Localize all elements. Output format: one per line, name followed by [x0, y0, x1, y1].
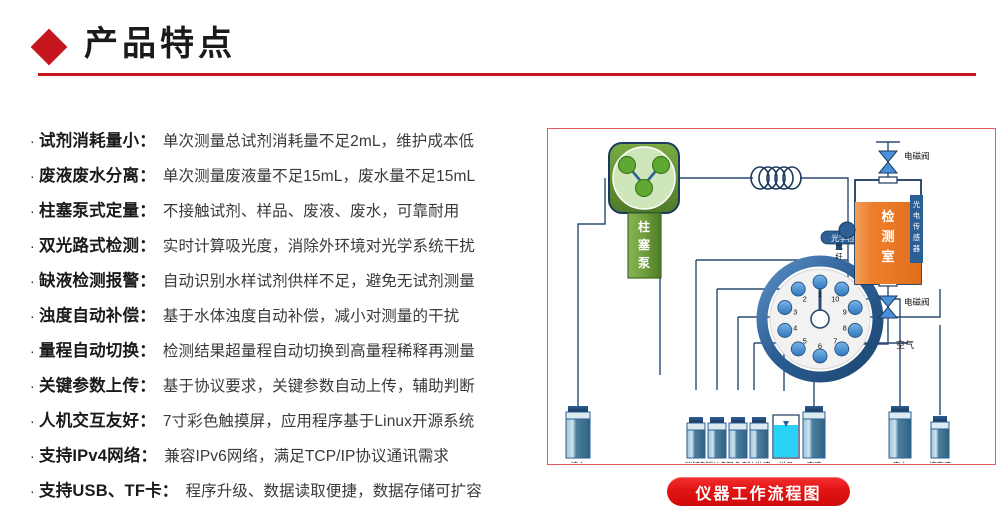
valve-port-label-10: 10 — [831, 294, 839, 303]
svg-text:光: 光 — [913, 200, 920, 209]
bottle-cap — [568, 406, 588, 412]
optical-fiber-label: 光纤 — [835, 241, 843, 261]
feature-title: 量程自动切换： — [39, 334, 156, 369]
bottle-body — [566, 419, 590, 458]
flow-diagram-svg: 柱 塞 泵 光学检测器 — [548, 129, 994, 463]
pump-label-2: 塞 — [638, 237, 651, 252]
valve-port-label-2: 2 — [803, 294, 807, 303]
feature-item: ·缺液检测报警：自动识别水样试剂供样不足，避免无试剂测量 — [30, 264, 540, 299]
bullet-icon: · — [30, 124, 39, 159]
feature-description: 兼容IPv6网络，满足TCP/IP协议通讯需求 — [157, 439, 449, 474]
chamber-label-1: 检 — [881, 209, 894, 224]
bottle-8: 核查液 — [929, 416, 952, 463]
bullet-icon: · — [30, 474, 39, 509]
bottle-label: 废水 — [893, 460, 908, 463]
chamber-label-2: 测 — [881, 229, 894, 244]
feature-item: ·废液废水分离：单次测量废液量不足15mL，废水量不足15mL — [30, 159, 540, 194]
feature-item: ·量程自动切换：检测结果超量程自动切换到高量程稀释再测量 — [30, 334, 540, 369]
feature-title: 废液废水分离： — [39, 159, 156, 194]
solenoid-valve-bottom: 电磁阀 — [879, 286, 930, 330]
bottle-label: 校准液 — [748, 460, 771, 463]
bullet-icon: · — [30, 159, 39, 194]
feature-description: 7寸彩色触摸屏，应用程序基于Linux开源系统 — [156, 404, 474, 439]
bottle-body — [729, 430, 747, 458]
header-divider — [38, 73, 976, 76]
air-port-label: 空气 — [896, 339, 914, 350]
bottle-label: 消解剂 — [685, 460, 708, 463]
feature-description: 基于协议要求，关键参数自动上传，辅助判断 — [156, 369, 475, 404]
bottle-label: 核查液 — [929, 460, 952, 463]
valve-port-4 — [778, 323, 792, 337]
bottle-body — [708, 430, 726, 458]
feature-description: 检测结果超量程自动切换到高量程稀释再测量 — [156, 334, 475, 369]
svg-text:光: 光 — [835, 241, 843, 251]
feature-description: 单次测量废液量不足15mL，废水量不足15mL — [156, 159, 475, 194]
feature-description: 基于水体浊度自动补偿，减小对测量的干扰 — [156, 299, 459, 334]
bullet-icon: · — [30, 299, 39, 334]
diagram-caption: 仪器工作流程图 — [667, 477, 850, 506]
beaker-liquid — [774, 425, 798, 457]
bottle-6: 废液 — [803, 406, 825, 463]
instrument-flow-diagram: 柱 塞 泵 光学检测器 — [547, 128, 996, 465]
valve-port-3 — [778, 301, 792, 315]
feature-title: 支持IPv4网络： — [39, 439, 157, 474]
bullet-icon: · — [30, 334, 39, 369]
bottle-shoulder — [889, 412, 911, 419]
svg-text:传: 传 — [913, 222, 920, 231]
feature-item: ·试剂消耗量小：单次测量总试剂消耗量不足2mL，维护成本低 — [30, 124, 540, 159]
chamber-label-3: 室 — [881, 249, 894, 264]
solenoid-valve-bottom-label: 电磁阀 — [904, 297, 930, 307]
valve-port-label-4: 4 — [793, 324, 797, 333]
bottle-4: 校准液 — [748, 417, 771, 463]
bottle-label: 纯水 — [571, 460, 586, 463]
bottle-cap — [891, 406, 909, 412]
valve-port-label-6: 6 — [818, 342, 822, 351]
bottle-1: 消解剂 — [685, 417, 708, 463]
bottle-body — [687, 430, 705, 458]
feature-title: 双光路式检测： — [39, 229, 156, 264]
bottle-shoulder — [566, 412, 590, 419]
bottle-shoulder — [931, 422, 949, 429]
bullet-icon: · — [30, 404, 39, 439]
feature-item: ·关键参数上传：基于协议要求，关键参数自动上传，辅助判断 — [30, 369, 540, 404]
bottle-label: 废液 — [807, 460, 822, 463]
feature-title: 试剂消耗量小： — [39, 124, 156, 159]
bottle-3: 显色剂 — [727, 417, 750, 463]
pump-label-3: 泵 — [638, 256, 650, 270]
bottle-cap — [689, 417, 703, 423]
svg-text:纤: 纤 — [835, 251, 843, 261]
bottle-shoulder — [750, 423, 768, 430]
photoelectric-sensor-label: 光电 传感 器 — [913, 200, 920, 253]
feature-item: ·柱塞泵式定量：不接触试剂、样品、废液、废水，可靠耐用 — [30, 194, 540, 229]
plunger-pump: 柱 塞 泵 — [609, 143, 679, 278]
diamond-icon — [31, 29, 68, 66]
valve-port-label-1: 1 — [818, 290, 822, 299]
bottle-label: 显色剂 — [727, 460, 750, 463]
feature-title: 关键参数上传： — [39, 369, 156, 404]
bottle-5: 样品 — [773, 415, 799, 463]
svg-text:电: 电 — [913, 211, 920, 220]
page-header: 产品特点 — [36, 18, 976, 80]
valve-port-label-3: 3 — [793, 307, 797, 316]
bottle-shoulder — [803, 412, 825, 419]
pump-rotor — [613, 147, 675, 209]
bullet-icon: · — [30, 229, 39, 264]
bottle-body — [750, 430, 768, 458]
valve-port-label-5: 5 — [803, 337, 807, 346]
bullet-icon: · — [30, 439, 39, 474]
bullet-icon: · — [30, 194, 39, 229]
svg-text:感: 感 — [913, 233, 920, 242]
valve-port-label-9: 9 — [843, 307, 847, 316]
svg-text:器: 器 — [913, 244, 920, 253]
feature-title: 人机交互友好： — [39, 404, 156, 439]
bullet-icon: · — [30, 264, 39, 299]
feature-description: 程序升级、数据读取便捷，数据存储可扩容 — [179, 474, 482, 509]
valve-port-label-8: 8 — [843, 324, 847, 333]
page-root: 产品特点 ·试剂消耗量小：单次测量总试剂消耗量不足2mL，维护成本低·废液废水分… — [0, 0, 1000, 524]
bottle-label: 缓冲剂 — [706, 460, 729, 463]
bottle-7: 废水 — [889, 406, 911, 463]
solenoid-valve-top: 电磁阀 — [876, 142, 930, 181]
reaction-coil-icon — [751, 167, 801, 189]
feature-title: 缺液检测报警： — [39, 264, 156, 299]
valve-port-8 — [848, 323, 862, 337]
valve-port-1 — [813, 275, 827, 289]
feature-item: ·双光路式检测：实时计算吸光度，消除外环境对光学系统干扰 — [30, 229, 540, 264]
feature-title: 支持USB、TF卡： — [39, 474, 179, 509]
valve-center-hub — [811, 310, 829, 328]
feature-description: 自动识别水样试剂供样不足，避免无试剂测量 — [156, 264, 475, 299]
bottle-label: 样品 — [779, 460, 794, 463]
bottle-shoulder — [687, 423, 705, 430]
feature-description: 实时计算吸光度，消除外环境对光学系统干扰 — [156, 229, 475, 264]
feature-item: ·支持IPv4网络：兼容IPv6网络，满足TCP/IP协议通讯需求 — [30, 439, 540, 474]
feature-item: ·支持USB、TF卡：程序升级、数据读取便捷，数据存储可扩容 — [30, 474, 540, 509]
feature-list: ·试剂消耗量小：单次测量总试剂消耗量不足2mL，维护成本低·废液废水分离：单次测… — [30, 124, 540, 509]
solenoid-valve-top-label: 电磁阀 — [904, 151, 930, 161]
bottle-cap — [731, 417, 745, 423]
bottle-0: 纯水 — [566, 406, 590, 463]
feature-item: ·浊度自动补偿：基于水体浊度自动补偿，减小对测量的干扰 — [30, 299, 540, 334]
bottle-cap — [710, 417, 724, 423]
optical-fiber-icon — [839, 222, 855, 238]
bottle-cap — [752, 417, 766, 423]
valve-port-label-7: 7 — [833, 337, 837, 346]
bottle-body — [889, 419, 911, 458]
valve-port-6 — [813, 349, 827, 363]
bottle-body — [931, 429, 949, 458]
feature-description: 单次测量总试剂消耗量不足2mL，维护成本低 — [156, 124, 474, 159]
valve-port-9 — [848, 301, 862, 315]
bottle-shoulder — [729, 423, 747, 430]
bottle-cap — [933, 416, 947, 422]
pump-label-1: 柱 — [638, 219, 650, 234]
bottle-shoulder — [708, 423, 726, 430]
feature-title: 浊度自动补偿： — [39, 299, 156, 334]
page-title: 产品特点 — [84, 21, 236, 67]
bottle-cap — [805, 406, 823, 412]
bullet-icon: · — [30, 369, 39, 404]
bottle-body — [803, 419, 825, 458]
feature-item: ·人机交互友好：7寸彩色触摸屏，应用程序基于Linux开源系统 — [30, 404, 540, 439]
bottle-2: 缓冲剂 — [706, 417, 729, 463]
feature-title: 柱塞泵式定量： — [39, 194, 156, 229]
reagent-bottles: 纯水消解剂缓冲剂显色剂校准液样品废液废水核查液 — [566, 406, 952, 463]
feature-description: 不接触试剂、样品、废液、废水，可靠耐用 — [156, 194, 459, 229]
